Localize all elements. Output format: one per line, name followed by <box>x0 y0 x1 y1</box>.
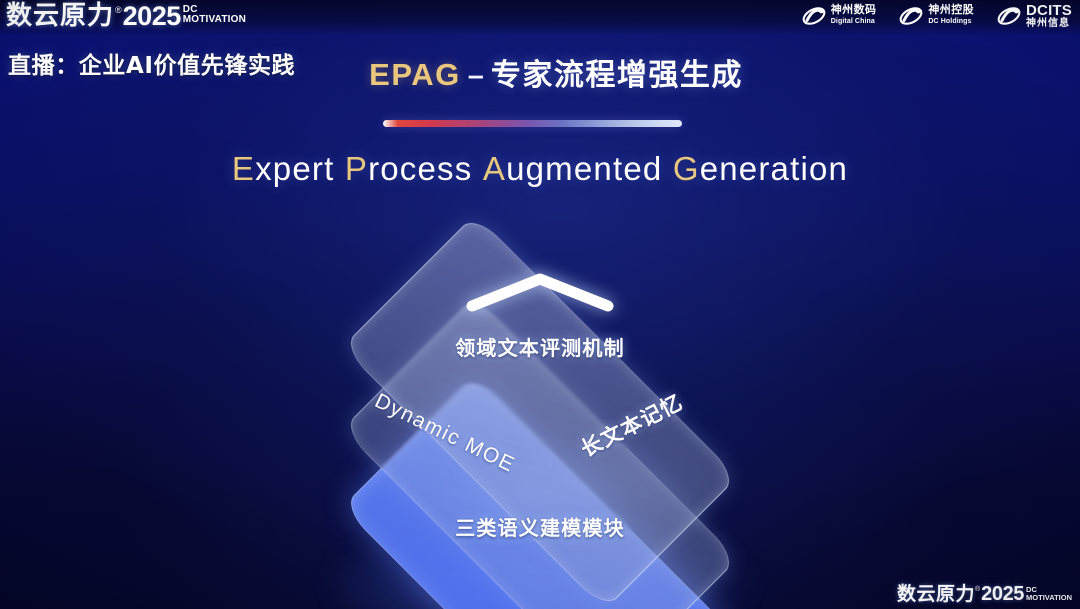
partner-text: 神州数码 Digital China <box>831 5 877 27</box>
subtitle-rest-generation: eneration <box>700 150 848 187</box>
swoosh-icon <box>801 3 827 29</box>
slide-title-chinese: 专家流程增强生成 <box>491 58 743 93</box>
subtitle-rest-augmented: ugmented <box>506 150 662 187</box>
partner-name-cn: 神州控股 <box>928 5 974 15</box>
brand-registered-mark: ® <box>115 4 122 16</box>
partner-logo-dc-holdings: 神州控股 DC Holdings <box>898 3 974 29</box>
partner-name-cn: 神州信息 <box>1026 19 1072 29</box>
brand-logo: 数云原力 ® 2025 DC MOTIVATION <box>6 2 246 30</box>
layer-stack-diagram: 领域文本评测机制 Dynamic MOE 长文本记忆 三类语义建模模块 <box>284 222 796 594</box>
title-divider-bar <box>383 120 682 127</box>
slide-title-acronym: EPAG <box>369 57 461 92</box>
partner-text: DCITS 神州信息 <box>1026 3 1072 29</box>
swoosh-icon <box>996 3 1022 29</box>
partner-text: 神州控股 DC Holdings <box>928 5 974 27</box>
watermark-name-cn: 数云原力 <box>897 584 975 605</box>
subtitle-cap-e: E <box>232 150 255 187</box>
subtitle-cap-g: G <box>673 150 700 187</box>
slide-title-dash: – <box>468 60 484 92</box>
subtitle-cap-p: P <box>345 150 368 187</box>
partner-name-en: DCITS <box>1026 3 1072 18</box>
partner-logo-digital-china: 神州数码 Digital China <box>801 3 877 29</box>
subtitle-cap-a: A <box>483 150 506 187</box>
brand-dc-line2: MOTIVATION <box>183 15 246 25</box>
swoosh-icon <box>898 3 924 29</box>
subtitle-rest-process: rocess <box>368 150 472 187</box>
watermark-registered-mark: ® <box>975 585 980 595</box>
partner-name-cn: 神州数码 <box>831 5 877 15</box>
partner-logo-group: 神州数码 Digital China 神州控股 DC Holdings <box>801 3 1072 29</box>
watermark-dc-line2: MOTIVATION <box>1026 594 1072 602</box>
live-stream-label: 直播：企业AI价值先锋实践 <box>8 46 295 80</box>
chevron-up-icon <box>464 270 616 314</box>
watermark-year: 2025 <box>981 584 1024 605</box>
corner-watermark: 数云原力 ® 2025 DC MOTIVATION <box>897 584 1072 605</box>
english-subtitle: Expert Process Augmented Generation <box>0 150 1080 188</box>
partner-logo-dcits: DCITS 神州信息 <box>996 3 1072 29</box>
partner-name-en: Digital China <box>831 17 877 27</box>
layer-label-bottom: 三类语义建模模块 <box>284 512 796 541</box>
watermark-dc-motivation: DC MOTIVATION <box>1026 586 1072 602</box>
slide-canvas: 数云原力 ® 2025 DC MOTIVATION 直播：企业AI价值先锋实践 … <box>0 0 1080 609</box>
brand-name-cn: 数云原力 <box>6 2 114 30</box>
brand-year: 2025 <box>123 2 181 30</box>
partner-name-en: DC Holdings <box>928 17 974 27</box>
brand-dc-motivation: DC MOTIVATION <box>183 5 246 25</box>
subtitle-rest-expert: xpert <box>255 150 334 187</box>
layer-label-top: 领域文本评测机制 <box>284 332 796 361</box>
